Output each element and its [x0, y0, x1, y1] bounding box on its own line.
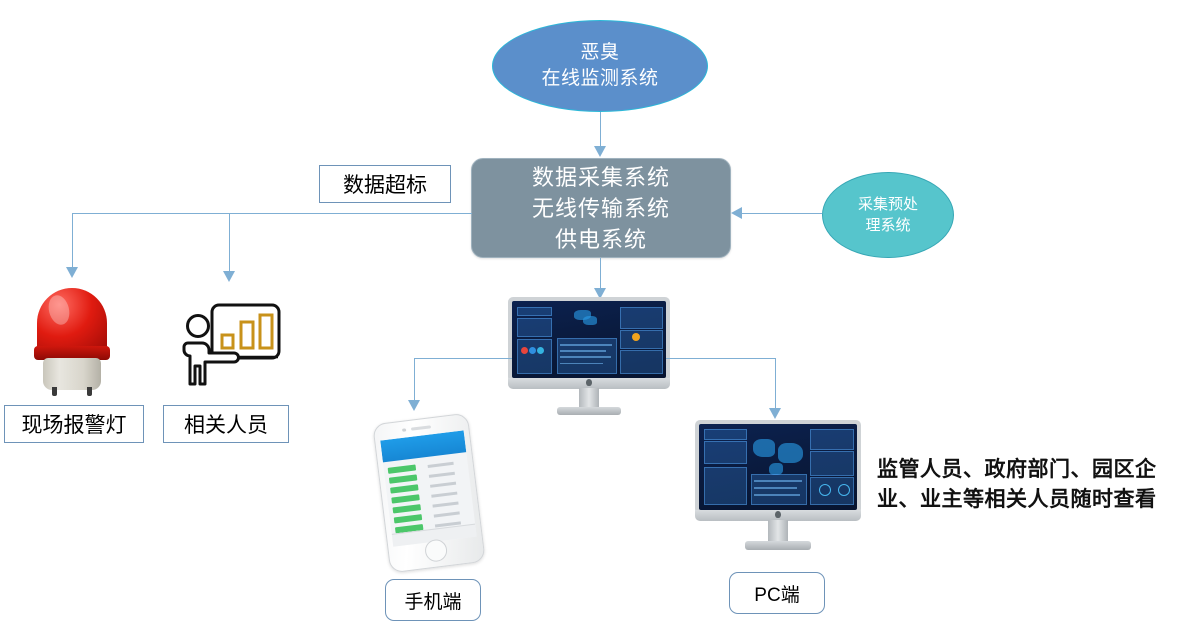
apple-logo-icon [586, 379, 592, 386]
label-site-alarm-lamp-text: 现场报警灯 [22, 409, 127, 439]
connector-preprocess-to-core [742, 213, 822, 214]
pc-dashboard-display [699, 424, 857, 510]
apple-logo-pc-icon [775, 511, 781, 518]
core-line-acquisition: 数据采集系统 [532, 162, 670, 193]
label-pc-terminal[interactable]: PC端 [729, 572, 825, 614]
node-data-acquisition-core[interactable]: 数据采集系统 无线传输系统 供电系统 [471, 158, 731, 258]
connector-imac-branch-left [414, 358, 512, 359]
presenter-chart-icon [181, 297, 285, 389]
arrowhead-branch-to-pc [769, 408, 781, 419]
label-pc-terminal-text: PC端 [754, 580, 799, 607]
arrowhead-preprocess-to-core [731, 207, 742, 219]
label-data-over-limit[interactable]: 数据超标 [319, 165, 451, 203]
label-related-personnel[interactable]: 相关人员 [163, 405, 289, 443]
pc-stand-foot [745, 541, 811, 550]
connector-trunk-to-presenter [229, 213, 230, 273]
connector-branch-to-pc [775, 358, 776, 410]
phone-app-screen [380, 430, 476, 546]
label-site-alarm-lamp[interactable]: 现场报警灯 [4, 405, 144, 443]
connector-core-to-alarm-trunk [72, 213, 472, 214]
node-title-text: 恶臭 在线监测系统 [541, 40, 658, 92]
connector-core-to-imac [600, 258, 601, 290]
arrowhead-trunk-to-beacon [66, 267, 78, 278]
imac-dashboard-icon [508, 297, 670, 415]
label-related-personnel-text: 相关人员 [184, 409, 268, 439]
phone-front-camera-icon [402, 428, 406, 432]
beacon-foot-right [87, 387, 92, 396]
stakeholders-note-line1: 监管人员、政府部门、园区企 [877, 455, 1177, 485]
preprocess-node-text: 采集预处 理系统 [842, 194, 934, 236]
preprocess-line2: 理系统 [842, 215, 934, 236]
imac-screen-bezel [508, 297, 670, 382]
presenter-chart-svg [181, 297, 285, 389]
imac-dashboard-display [512, 301, 666, 378]
stakeholders-note: 监管人员、政府部门、园区企 业、业主等相关人员随时查看 [877, 455, 1177, 515]
label-mobile-terminal-text: 手机端 [404, 587, 461, 614]
alarm-beacon-icon [30, 288, 114, 396]
beacon-base [43, 358, 101, 390]
beacon-dome [37, 288, 107, 352]
imac-pc-dashboard-icon [695, 420, 861, 550]
core-line-wireless: 无线传输系统 [532, 193, 670, 224]
connector-title-to-core [600, 112, 601, 148]
node-odor-online-monitoring-system[interactable]: 恶臭 在线监测系统 [492, 20, 708, 112]
connector-imac-branch-right [666, 358, 776, 359]
core-node-text: 数据采集系统 无线传输系统 供电系统 [532, 162, 670, 255]
connector-branch-to-phone [414, 358, 415, 402]
node-acquisition-preprocessing[interactable]: 采集预处 理系统 [822, 172, 954, 258]
beacon-foot-left [52, 387, 57, 396]
core-line-power: 供电系统 [532, 224, 670, 255]
connector-trunk-to-beacon [72, 213, 73, 269]
arrowhead-trunk-to-presenter [223, 271, 235, 282]
arrowhead-branch-to-phone [408, 400, 420, 411]
pc-screen-bezel [695, 420, 861, 514]
imac-stand-neck [579, 388, 598, 407]
node-title-line1: 恶臭 [541, 40, 658, 66]
preprocess-line1: 采集预处 [842, 194, 934, 215]
imac-stand-foot [557, 407, 622, 415]
stakeholders-note-line2: 业、业主等相关人员随时查看 [877, 485, 1177, 515]
label-data-over-limit-text: 数据超标 [343, 169, 427, 199]
node-title-line2: 在线监测系统 [541, 66, 658, 92]
arrowhead-title-to-core [594, 146, 606, 157]
diagram-canvas: 恶臭 在线监测系统 数据采集系统 无线传输系统 供电系统 采集预处 理系统 数据… [0, 0, 1181, 626]
label-mobile-terminal[interactable]: 手机端 [385, 579, 481, 621]
smartphone-app-icon [372, 413, 486, 574]
pc-stand-neck [768, 520, 788, 541]
